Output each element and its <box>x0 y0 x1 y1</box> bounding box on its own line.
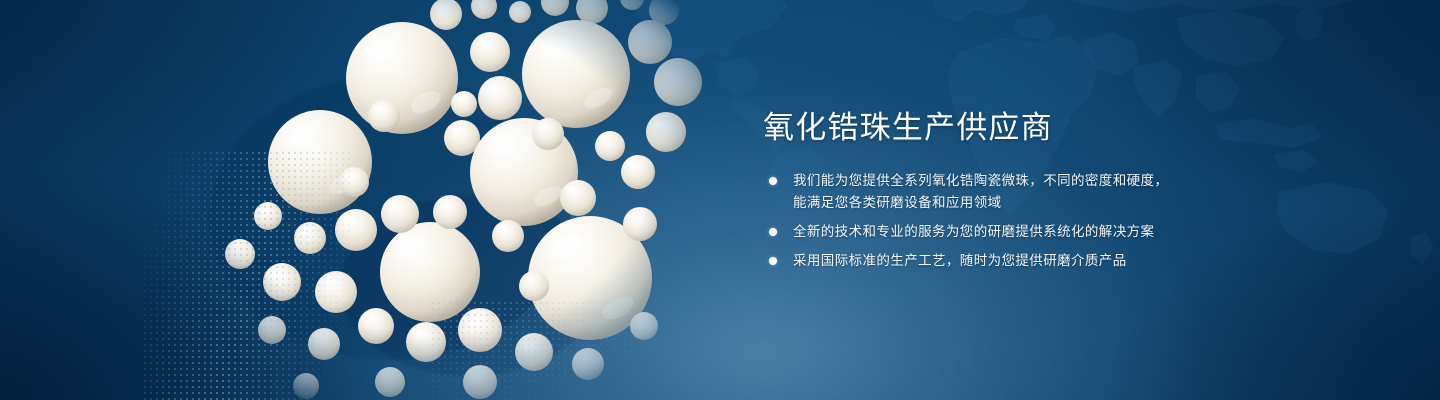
bullet-line: 能满足您各类研磨设备和应用领域 <box>793 192 1323 214</box>
bullet-dot-icon <box>769 177 777 185</box>
hero-banner: 氧化锆珠生产供应商 我们能为您提供全系列氧化锆陶瓷微珠，不同的密度和硬度， 能满… <box>0 0 1440 400</box>
bullet-text: 我们能为您提供全系列氧化锆陶瓷微珠，不同的密度和硬度， 能满足您各类研磨设备和应… <box>793 170 1323 214</box>
banner-copy: 氧化锆珠生产供应商 我们能为您提供全系列氧化锆陶瓷微珠，不同的密度和硬度， 能满… <box>763 108 1323 272</box>
bullet-dot-icon <box>769 257 777 265</box>
zirconia-beads-photo <box>140 0 710 400</box>
feature-bullet-list: 我们能为您提供全系列氧化锆陶瓷微珠，不同的密度和硬度， 能满足您各类研磨设备和应… <box>763 170 1323 272</box>
page-title: 氧化锆珠生产供应商 <box>763 108 1323 148</box>
list-item: 全新的技术和专业的服务为您的研磨提供系统化的解决方案 <box>763 221 1323 243</box>
bullet-line: 全新的技术和专业的服务为您的研磨提供系统化的解决方案 <box>793 224 1154 239</box>
bullet-dot-icon <box>769 228 777 236</box>
bullet-line: 采用国际标准的生产工艺，随时为您提供研磨介质产品 <box>793 253 1127 268</box>
bullet-text: 全新的技术和专业的服务为您的研磨提供系统化的解决方案 <box>793 221 1323 243</box>
list-item: 我们能为您提供全系列氧化锆陶瓷微珠，不同的密度和硬度， 能满足您各类研磨设备和应… <box>763 170 1323 214</box>
bullet-text: 采用国际标准的生产工艺，随时为您提供研磨介质产品 <box>793 250 1323 272</box>
bullet-line: 我们能为您提供全系列氧化锆陶瓷微珠，不同的密度和硬度， <box>793 173 1168 188</box>
list-item: 采用国际标准的生产工艺，随时为您提供研磨介质产品 <box>763 250 1323 272</box>
